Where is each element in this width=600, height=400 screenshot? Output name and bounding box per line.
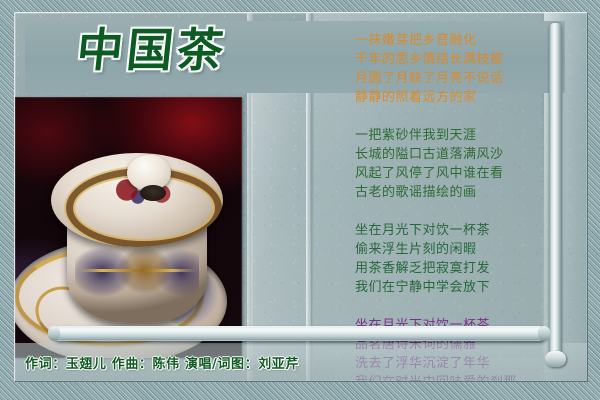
cup-gold-band: [78, 269, 196, 272]
lyrics-verse: 坐在月光下对饮一杯茶偷来浮生片刻的闲暇用茶香解乏把寂寞打发我们在宁静中学会放下: [319, 221, 539, 297]
gaiwan-tea-cup-photo: [15, 97, 242, 358]
lyrics-line: 千年的思乡情结长满枝桠: [355, 50, 539, 69]
vertical-rail-end-cap: [545, 351, 566, 367]
lyrics-line: 坐在月光下对饮一杯茶: [355, 221, 539, 240]
page-title: 中国茶: [74, 19, 231, 81]
wallpaper-backdrop: 中国茶: [0, 0, 600, 400]
artwork-board: 中国茶: [14, 12, 588, 382]
glass-panel-middle: [251, 89, 307, 365]
lyrics-line: 用茶香解乏把寂寞打发: [355, 259, 539, 278]
cup-lid: [51, 153, 223, 247]
lyrics-line: 长城的隘口古道落满风沙: [355, 145, 539, 164]
lyrics-line: 偷来浮生片刻的闲暇: [355, 240, 539, 259]
lyrics-line: 一把紫砂伴我到天涯: [355, 126, 539, 145]
lyrics-line: 我们在宁静中学会放下: [355, 278, 539, 297]
vertical-metal-rail: [549, 23, 562, 361]
photo-background: [15, 97, 242, 358]
lyrics-line: 古老的歌谣描绘的画: [355, 183, 539, 202]
lyrics-line: 月圆了月缺了月亮不说话: [355, 69, 539, 88]
horizontal-metal-rod: [52, 326, 546, 341]
credits-text: 作词：玉翅儿 作曲：陈伟 演唱/词图：刘亚芹: [25, 353, 299, 372]
lyrics-verse: 一抹嫩芽把乡音融化千年的思乡情结长满枝桠月圆了月缺了月亮不说话静静的照着远方的家: [319, 31, 539, 107]
lyrics-line: 风起了风停了风中谁在看: [355, 164, 539, 183]
lyrics-line: 一抹嫩芽把乡音融化: [355, 31, 539, 50]
lyrics-line: 静静的照着远方的家: [355, 88, 539, 107]
lyrics-verse: 一把紫砂伴我到天涯长城的隘口古道落满风沙风起了风停了风中谁在看古老的歌谣描绘的画: [319, 126, 539, 202]
